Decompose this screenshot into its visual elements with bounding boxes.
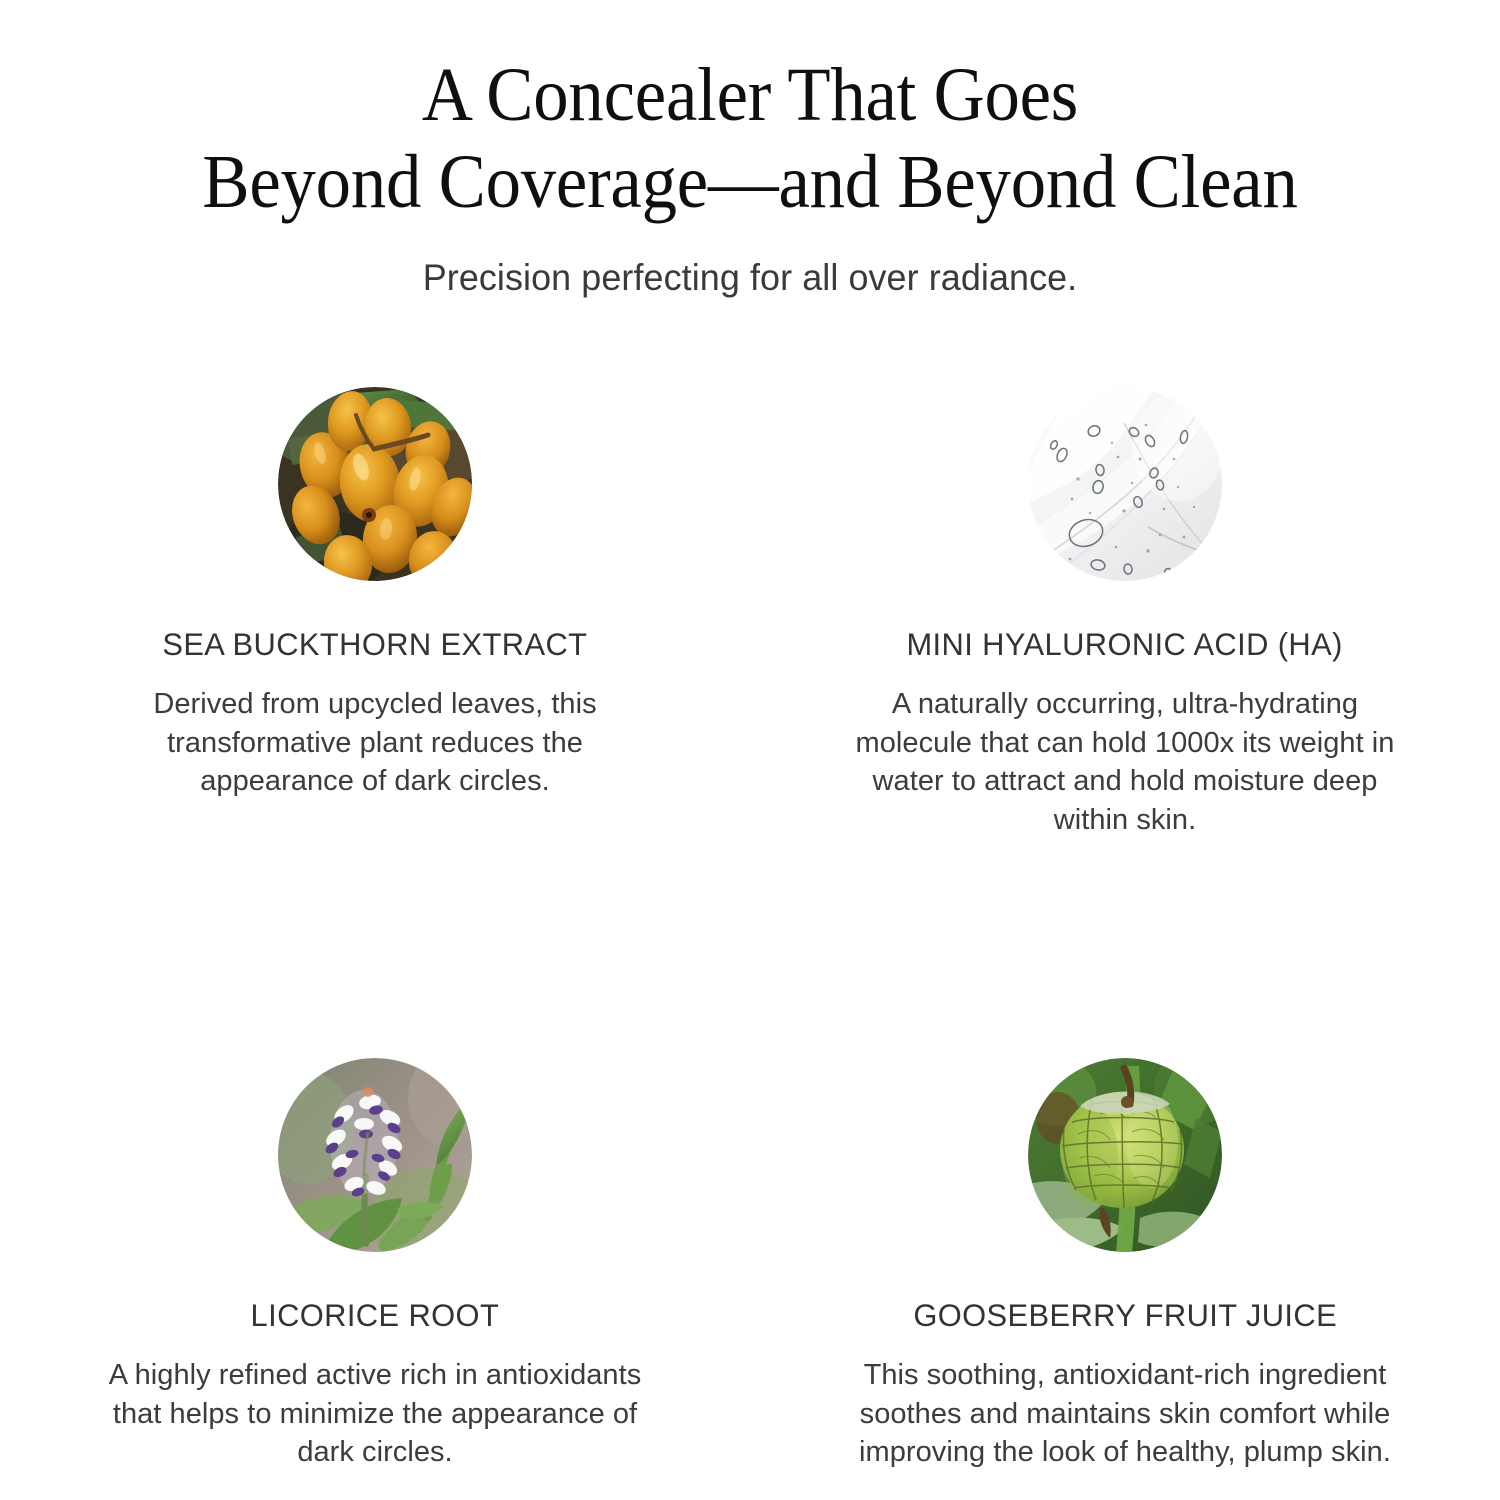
hyaluronic-acid-gel-texture-photo bbox=[1028, 387, 1222, 581]
ingredient-card-hyaluronic-acid: MINI HYALURONIC ACID (HA) A naturally oc… bbox=[750, 385, 1500, 915]
ingredient-card-gooseberry: GOOSEBERRY FRUIT JUICE This soothing, an… bbox=[750, 915, 1500, 1445]
ingredient-description: A naturally occurring, ultra-hydrating m… bbox=[840, 685, 1410, 839]
page-title: A Concealer That Goes Beyond Coverage—an… bbox=[53, 52, 1448, 225]
ingredient-grid: SEA BUCKTHORN EXTRACT Derived from upcyc… bbox=[0, 385, 1500, 1445]
ingredient-card-licorice-root: LICORICE ROOT A highly refined active ri… bbox=[0, 915, 750, 1445]
gooseberry-husk-fruit-photo bbox=[1028, 1058, 1222, 1252]
ingredient-title: SEA BUCKTHORN EXTRACT bbox=[162, 626, 587, 663]
ingredient-description: A highly refined active rich in antioxid… bbox=[105, 1356, 645, 1472]
headline-line-2: Beyond Coverage—and Beyond Clean bbox=[53, 139, 1448, 226]
ingredient-card-sea-buckthorn: SEA BUCKTHORN EXTRACT Derived from upcyc… bbox=[0, 385, 750, 915]
headline-line-1: A Concealer That Goes bbox=[53, 52, 1448, 139]
licorice-root-flower-photo bbox=[278, 1058, 472, 1252]
sea-buckthorn-berries-photo bbox=[278, 387, 472, 581]
page-subtitle: Precision perfecting for all over radian… bbox=[23, 257, 1478, 299]
ingredient-description: Derived from upcycled leaves, this trans… bbox=[105, 685, 645, 801]
page-header: A Concealer That Goes Beyond Coverage—an… bbox=[0, 52, 1500, 299]
ingredient-title: LICORICE ROOT bbox=[251, 1297, 500, 1334]
ingredient-benefits-page: A Concealer That Goes Beyond Coverage—an… bbox=[0, 0, 1500, 1500]
ingredient-title: GOOSEBERRY FRUIT JUICE bbox=[913, 1297, 1337, 1334]
ingredient-title: MINI HYALURONIC ACID (HA) bbox=[907, 626, 1343, 663]
ingredient-description: This soothing, antioxidant-rich ingredie… bbox=[840, 1356, 1410, 1472]
